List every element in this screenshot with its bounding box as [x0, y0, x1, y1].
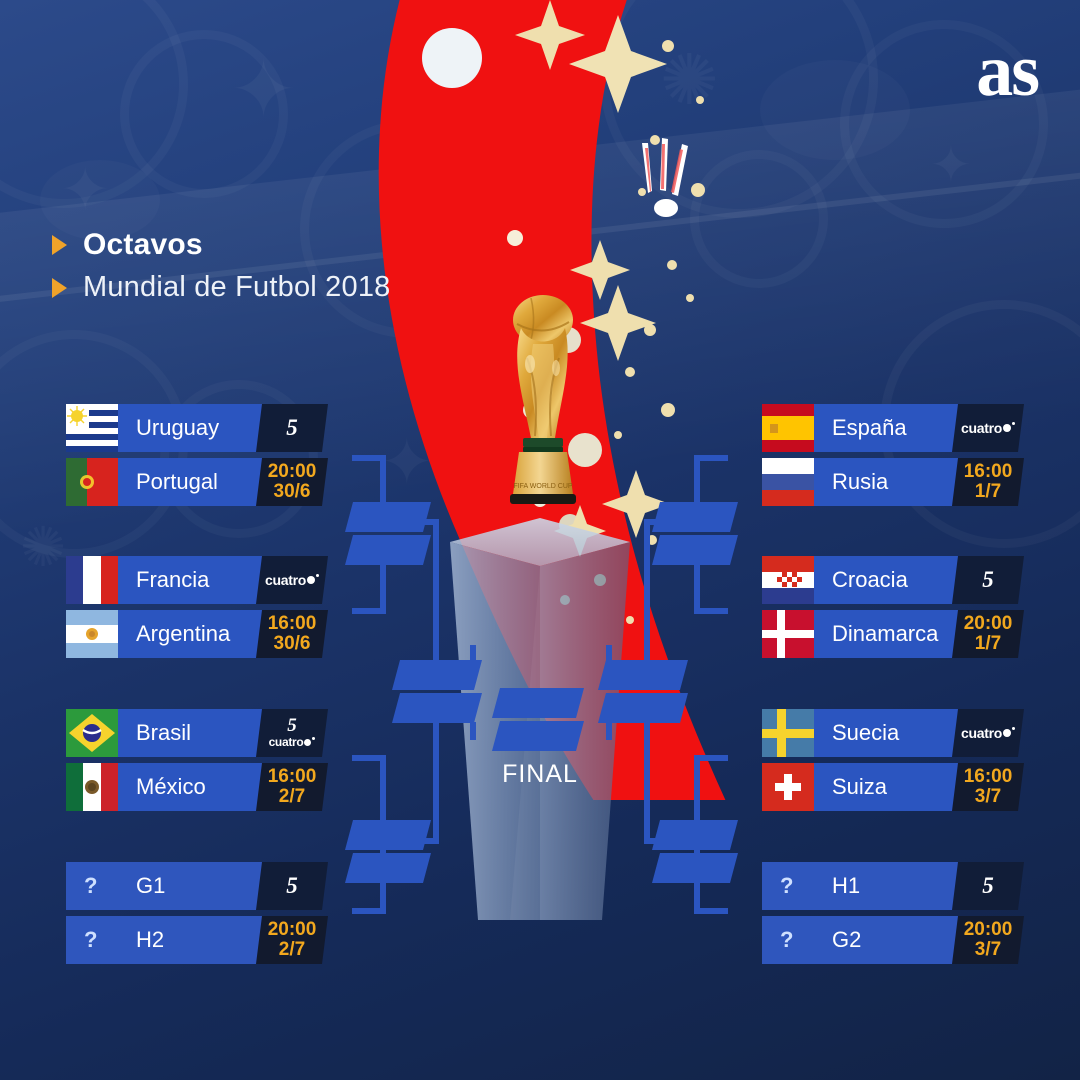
- match-row-bottom[interactable]: Dinamarca 20:00 1/7: [762, 610, 1024, 658]
- flag-suiza: [762, 763, 814, 811]
- channel-box: 5 cuatro: [256, 709, 328, 757]
- title-secondary: Mundial de Futbol 2018: [83, 271, 391, 304]
- unknown-team-icon: ?: [780, 916, 793, 964]
- flag-suecia: [762, 709, 814, 757]
- flag-mexico: [66, 763, 118, 811]
- page-title: Octavos Mundial de Futbol 2018: [52, 228, 391, 313]
- team-name: Argentina: [136, 610, 230, 658]
- channel-box: cuatro: [952, 709, 1024, 757]
- match-row-bottom[interactable]: México 16:00 2/7: [66, 763, 328, 811]
- kickoff-box: 20:00 30/6: [256, 458, 328, 506]
- kickoff-time: 20:00: [964, 920, 1013, 940]
- match-row-top[interactable]: Uruguay 5: [66, 404, 328, 452]
- unknown-team-icon: ?: [780, 862, 793, 910]
- team-name: Brasil: [136, 709, 191, 757]
- team-name: H2: [136, 916, 164, 964]
- match-card[interactable]: ? G1 5 ? H2 20:00 2/7: [66, 862, 328, 970]
- kickoff-time: 16:00: [964, 767, 1013, 787]
- match-row-top[interactable]: Brasil 5 cuatro: [66, 709, 328, 757]
- kickoff-time: 16:00: [268, 767, 317, 787]
- kickoff-date: 2/7: [279, 940, 305, 960]
- match-card[interactable]: Uruguay 5 Portugal 20:00 30/6: [66, 404, 328, 512]
- flag-rusia: [762, 458, 814, 506]
- team-name: Rusia: [832, 458, 888, 506]
- channel-box: 5: [256, 862, 328, 910]
- match-row-bottom[interactable]: ? G2 20:00 3/7: [762, 916, 1024, 964]
- flag-brasil: [66, 709, 118, 757]
- cuatro-icon: cuatro: [265, 572, 319, 588]
- match-card[interactable]: Croacia 5 Dinamarca 20:00 1/7: [762, 556, 1024, 664]
- cuatro-icon: cuatro: [269, 735, 316, 749]
- telecinco-icon: 5: [286, 417, 298, 439]
- flag-dinamarca: [762, 610, 814, 658]
- svg-text:FIFA WORLD CUP: FIFA WORLD CUP: [513, 483, 572, 490]
- unknown-team-icon: ?: [84, 862, 97, 910]
- bullet-arrow-icon: [52, 235, 67, 255]
- match-card[interactable]: Brasil 5 cuatro Mé: [66, 709, 328, 817]
- kickoff-date: 30/6: [274, 634, 311, 654]
- kickoff-time: 20:00: [964, 614, 1013, 634]
- channel-box: 5: [952, 556, 1024, 604]
- match-row-bottom[interactable]: Rusia 16:00 1/7: [762, 458, 1024, 506]
- match-row-top[interactable]: España cuatro: [762, 404, 1024, 452]
- team-name: Suiza: [832, 763, 887, 811]
- cuatro-icon: cuatro: [961, 725, 1015, 741]
- kickoff-date: 3/7: [975, 787, 1001, 807]
- match-card[interactable]: Francia cuatro Argentina: [66, 556, 328, 664]
- title-primary: Octavos: [83, 228, 203, 262]
- team-name: Uruguay: [136, 404, 219, 452]
- kickoff-date: 2/7: [279, 787, 305, 807]
- flag-francia: [66, 556, 118, 604]
- world-cup-trophy: FIFA WORLD CUP: [497, 288, 589, 520]
- unknown-team-icon: ?: [84, 916, 97, 964]
- flag-croacia: [762, 556, 814, 604]
- channel-box: 5: [952, 862, 1024, 910]
- team-name: Portugal: [136, 458, 218, 506]
- infographic-canvas: ✦ ✦ ✺ ✺ ✦ ✦: [0, 0, 1080, 1080]
- kickoff-date: 30/6: [274, 482, 311, 502]
- match-row-top[interactable]: Suecia cuatro: [762, 709, 1024, 757]
- kickoff-time: 16:00: [268, 614, 317, 634]
- kickoff-date: 1/7: [975, 634, 1001, 654]
- bullet-arrow-icon: [52, 278, 67, 298]
- telecinco-icon: 5: [982, 875, 994, 897]
- match-card[interactable]: ? H1 5 ? G2 20:00 3/7: [762, 862, 1024, 970]
- flag-portugal: [66, 458, 118, 506]
- channel-box: cuatro: [952, 404, 1024, 452]
- kickoff-box: 16:00 3/7: [952, 763, 1024, 811]
- telecinco-icon: 5: [286, 875, 298, 897]
- match-row-bottom[interactable]: Argentina 16:00 30/6: [66, 610, 328, 658]
- team-name: México: [136, 763, 206, 811]
- match-row-top[interactable]: Croacia 5: [762, 556, 1024, 604]
- kickoff-box: 16:00 1/7: [952, 458, 1024, 506]
- team-name: Croacia: [832, 556, 908, 604]
- kickoff-box: 20:00 2/7: [256, 916, 328, 964]
- match-card[interactable]: España cuatro Rusia 16:00: [762, 404, 1024, 512]
- team-name: G1: [136, 862, 165, 910]
- as-logo: as: [976, 34, 1038, 108]
- kickoff-box: 20:00 3/7: [952, 916, 1024, 964]
- flag-espana: [762, 404, 814, 452]
- match-row-top[interactable]: ? G1 5: [66, 862, 328, 910]
- kickoff-date: 3/7: [975, 940, 1001, 960]
- team-name: H1: [832, 862, 860, 910]
- channel-box: cuatro: [256, 556, 328, 604]
- flag-uruguay: [66, 404, 118, 452]
- kickoff-time: 20:00: [268, 462, 317, 482]
- channel-box: 5: [256, 404, 328, 452]
- cuatro-icon: cuatro: [961, 420, 1015, 436]
- team-name: Francia: [136, 556, 209, 604]
- match-row-top[interactable]: ? H1 5: [762, 862, 1024, 910]
- kickoff-box: 16:00 30/6: [256, 610, 328, 658]
- kickoff-time: 20:00: [268, 920, 317, 940]
- match-card[interactable]: Suecia cuatro Suiza 16:00: [762, 709, 1024, 817]
- telecinco-icon: 5: [982, 569, 994, 591]
- telecinco-icon: 5: [287, 717, 297, 735]
- match-row-bottom[interactable]: ? H2 20:00 2/7: [66, 916, 328, 964]
- kickoff-date: 1/7: [975, 482, 1001, 502]
- team-name: España: [832, 404, 907, 452]
- match-row-bottom[interactable]: Portugal 20:00 30/6: [66, 458, 328, 506]
- match-row-top[interactable]: Francia cuatro: [66, 556, 328, 604]
- kickoff-time: 16:00: [964, 462, 1013, 482]
- team-name: G2: [832, 916, 861, 964]
- team-name: Dinamarca: [832, 610, 938, 658]
- team-name: Suecia: [832, 709, 899, 757]
- flag-argentina: [66, 610, 118, 658]
- match-row-bottom[interactable]: Suiza 16:00 3/7: [762, 763, 1024, 811]
- kickoff-box: 16:00 2/7: [256, 763, 328, 811]
- kickoff-box: 20:00 1/7: [952, 610, 1024, 658]
